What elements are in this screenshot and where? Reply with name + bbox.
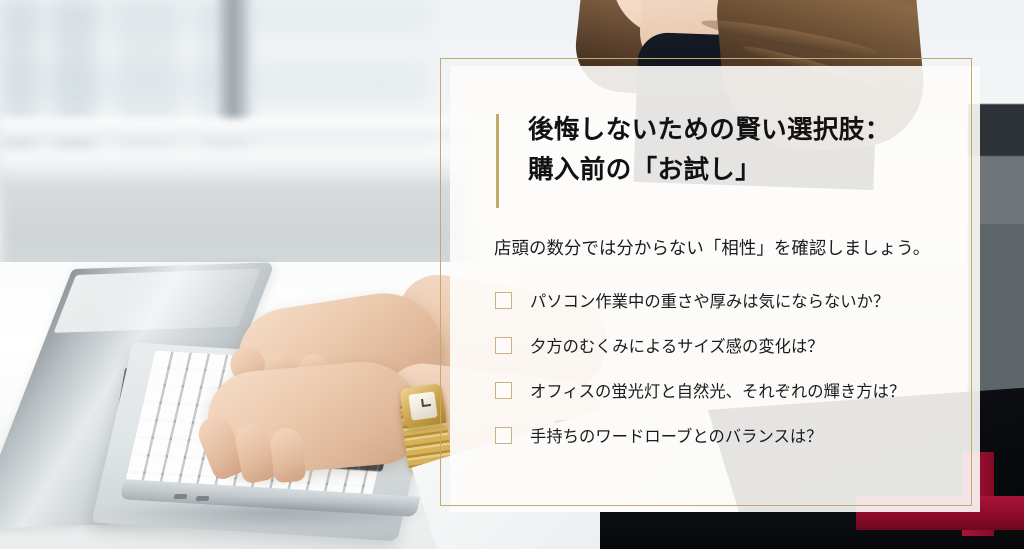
checkbox-icon[interactable] [495, 292, 512, 309]
page-title-line-1: 後悔しないための賢い選択肢： [528, 110, 891, 150]
finger [270, 427, 307, 484]
checklist-item-label: 手持ちのワードローブとのバランスは？ [530, 423, 823, 447]
checklist-item-label: パソコン作業中の重さや厚みは気にならないか？ [530, 288, 889, 312]
screenshot-stage: 後悔しないための賢い選択肢： 購入前の「お試し」 店頭の数分では分からない「相性… [0, 0, 1024, 549]
checklist-item[interactable]: 手持ちのワードローブとのバランスは？ [495, 423, 950, 447]
checkbox-icon[interactable] [495, 382, 512, 399]
laptop-port [195, 496, 209, 501]
laptop-port [173, 494, 187, 499]
card-subtitle: 店頭の数分では分からない「相性」を確認しましょう。 [474, 235, 950, 260]
info-card: 後悔しないための賢い選択肢： 購入前の「お試し」 店頭の数分では分からない「相性… [450, 66, 980, 512]
watch-minute-hand [423, 404, 431, 407]
checklist: パソコン作業中の重さや厚みは気にならないか？ 夕方のむくみによるサイズ感の変化は… [474, 288, 950, 447]
desk-edge [0, 150, 470, 180]
checklist-item[interactable]: オフィスの蛍光灯と自然光、それぞれの輝き方は？ [495, 378, 950, 402]
checklist-item-label: 夕方のむくみによるサイズ感の変化は？ [530, 333, 824, 357]
window-mullion [218, 0, 252, 126]
page-title-line-2: 購入前の「お試し」 [528, 150, 891, 190]
checklist-item-label: オフィスの蛍光灯と自然光、それぞれの輝き方は？ [530, 378, 905, 402]
card-title-row: 後悔しないための賢い選択肢： 購入前の「お試し」 [474, 110, 950, 208]
laptop-shadow [108, 505, 438, 529]
watch-case [399, 383, 446, 428]
window-sill [0, 118, 470, 138]
watch-face [408, 391, 437, 420]
gold-accent-bar [496, 114, 499, 208]
checklist-item[interactable]: パソコン作業中の重さや厚みは気にならないか？ [495, 288, 950, 312]
laptop-lid-highlight [54, 269, 261, 333]
page-title: 後悔しないための賢い選択肢： 購入前の「お試し」 [528, 110, 891, 191]
checkbox-icon[interactable] [495, 427, 512, 444]
checklist-item[interactable]: 夕方のむくみによるサイズ感の変化は？ [495, 333, 950, 357]
checkbox-icon[interactable] [495, 337, 512, 354]
